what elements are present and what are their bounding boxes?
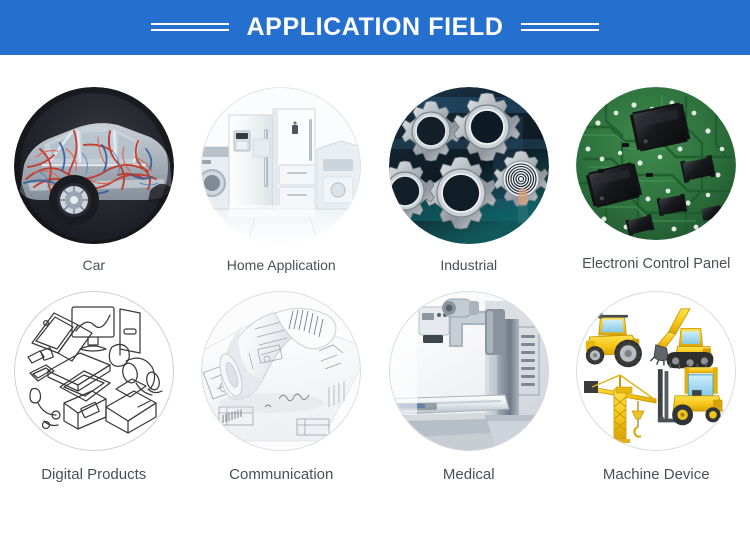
application-item-car[interactable]: Car [0,55,188,273]
item-label-electronic-control-panel: Electroni Control Panel [582,257,730,273]
gears-icon [389,87,549,244]
application-item-communication[interactable]: Communication [188,273,376,491]
application-item-digital-products[interactable]: Digital Products [0,273,188,491]
application-item-machine-device[interactable]: Machine Device [563,273,750,491]
car-wiring-harness-icon [14,87,174,244]
left-rule-decoration [151,23,229,32]
item-label-industrial: Industrial [440,258,497,273]
digital-products-icon [14,291,174,451]
application-item-medical[interactable]: Medical [375,273,563,491]
item-label-machine-device: Machine Device [603,467,710,484]
right-rule-decoration [521,23,599,32]
blueprints-icon [201,291,361,451]
circuit-board-icon [576,87,736,240]
construction-machines-icon [576,291,736,451]
application-item-industrial[interactable]: Industrial [375,55,563,273]
item-label-car: Car [82,258,105,273]
page-title: APPLICATION FIELD [247,15,504,40]
item-label-communication: Communication [229,467,333,484]
page-header-banner: APPLICATION FIELD [0,0,750,55]
application-item-electronic-control-panel[interactable]: Electroni Control Panel [563,55,750,273]
home-appliances-icon [201,87,361,244]
application-field-grid: Car [0,55,750,543]
medical-equipment-icon [389,291,549,451]
application-field-page: APPLICATION FIELD [0,0,750,543]
item-label-digital-products: Digital Products [41,467,146,484]
item-label-home-application: Home Application [227,258,336,273]
application-item-home-application[interactable]: Home Application [188,55,376,273]
item-label-medical: Medical [443,467,495,484]
